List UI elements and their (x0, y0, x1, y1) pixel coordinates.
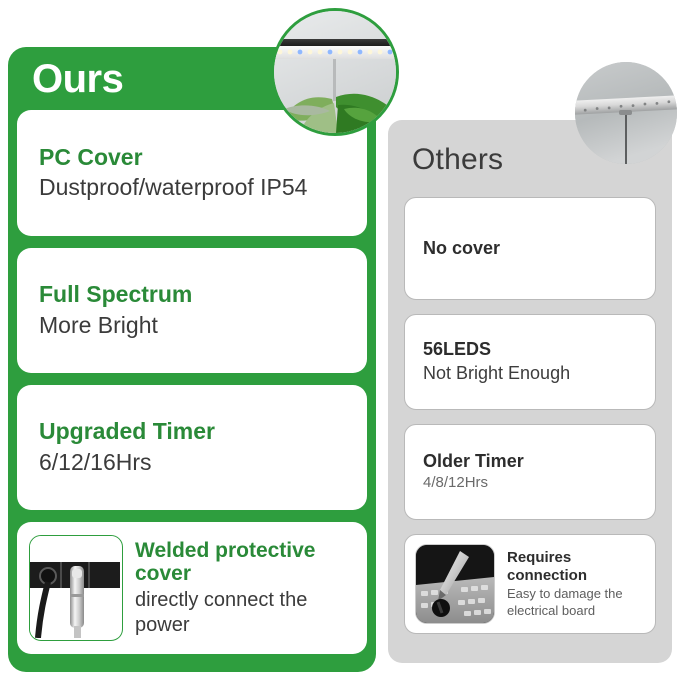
ours-card-sub: 6/12/16Hrs (39, 448, 345, 476)
ours-card-sub: directly connect the power (135, 588, 355, 637)
others-title: Others (412, 143, 503, 177)
ours-card-list: PC Cover Dustproof/waterproof IP54 Full … (17, 110, 367, 666)
others-card-heading: Older Timer (423, 451, 637, 472)
comparison-infographic: Others No cover 56LEDS Not Bright Enough… (0, 0, 679, 680)
ours-card-sub: Dustproof/waterproof IP54 (39, 173, 345, 201)
others-card-no-cover: No cover (404, 197, 656, 300)
ours-card-heading: Full Spectrum (39, 282, 345, 307)
ours-card-welded-cover: Welded protective cover directly connect… (17, 522, 367, 654)
ours-title: Ours (32, 57, 123, 102)
others-card-sub: Easy to damage the electrical board (507, 586, 645, 619)
others-panel: Others No cover 56LEDS Not Bright Enough… (388, 120, 672, 663)
others-card-sub: Not Bright Enough (423, 362, 637, 385)
welded-cover-photo (29, 535, 123, 641)
ours-card-heading: PC Cover (39, 145, 345, 170)
ours-card-upgraded-timer: Upgraded Timer 6/12/16Hrs (17, 385, 367, 510)
ours-card-full-spectrum: Full Spectrum More Bright (17, 248, 367, 373)
connector-damage-photo (415, 544, 495, 624)
others-card-timer: Older Timer 4/8/12Hrs (404, 424, 656, 520)
others-card-heading: 56LEDS (423, 339, 637, 360)
others-card-heading: No cover (423, 238, 637, 259)
ours-panel: Ours PC Cover Dustproof/waterproof IP54 … (8, 47, 376, 672)
others-card-list: No cover 56LEDS Not Bright Enough Older … (404, 197, 656, 648)
others-card-leds: 56LEDS Not Bright Enough (404, 314, 656, 410)
grow-light-with-plants-photo (271, 8, 399, 136)
ours-card-heading: Upgraded Timer (39, 419, 345, 444)
grow-light-gray-photo (575, 62, 677, 164)
others-card-connection: Requires connection Easy to damage the e… (404, 534, 656, 634)
others-card-heading: Requires connection (507, 549, 645, 584)
ours-card-sub: More Bright (39, 311, 345, 339)
others-card-sub: 4/8/12Hrs (423, 474, 637, 493)
ours-card-heading: Welded protective cover (135, 539, 355, 585)
